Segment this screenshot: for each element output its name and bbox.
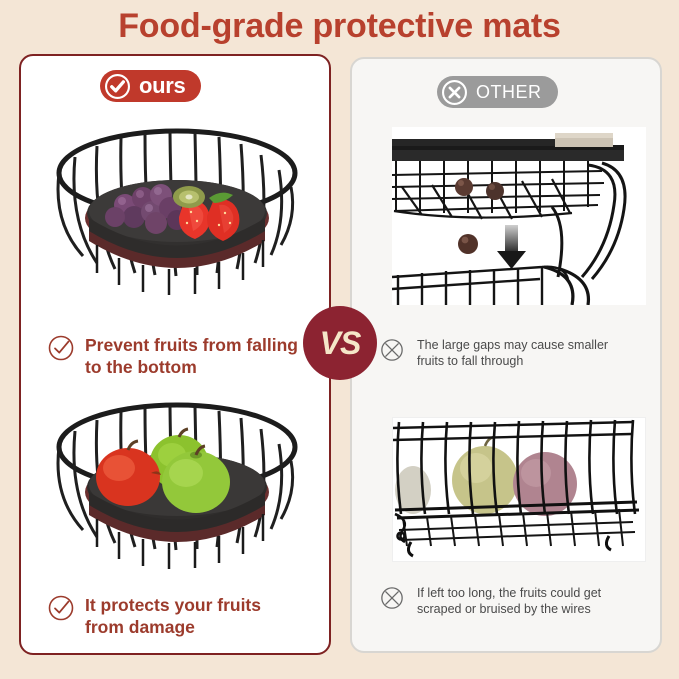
page-title: Food-grade protective mats <box>0 4 679 48</box>
caption-line-1: If left too long, the fruits could get <box>417 585 601 601</box>
ours-photo-grapes-strawberries <box>39 113 315 303</box>
vs-label: VS <box>320 327 361 359</box>
caption-line-2: from damage <box>85 616 261 638</box>
x-circle-icon <box>380 586 406 612</box>
x-circle-icon <box>442 80 467 105</box>
caption-line-1: The large gaps may cause smaller <box>417 337 608 353</box>
ours-caption-2: It protects your fruits from damage <box>48 594 308 638</box>
ours-badge: ours <box>100 70 201 102</box>
other-caption-1-text: The large gaps may cause smaller fruits … <box>417 337 608 369</box>
other-caption-2: If left too long, the fruits could get s… <box>380 585 640 617</box>
other-caption-1: The large gaps may cause smaller fruits … <box>380 337 640 369</box>
other-badge: OTHER <box>437 76 558 108</box>
infographic-page: Food-grade protective mats ours <box>0 0 679 679</box>
caption-line-2: to the bottom <box>85 356 298 378</box>
other-caption-2-text: If left too long, the fruits could get s… <box>417 585 601 617</box>
ours-caption-1: Prevent fruits from falling to the botto… <box>48 334 308 378</box>
caption-line-1: Prevent fruits from falling <box>85 334 298 356</box>
check-circle-icon <box>48 335 74 361</box>
x-circle-icon <box>380 338 406 364</box>
other-photo-gaps <box>392 127 646 305</box>
caption-line-2: scraped or bruised by the wires <box>417 601 601 617</box>
caption-line-1: It protects your fruits <box>85 594 261 616</box>
ours-caption-2-text: It protects your fruits from damage <box>85 594 261 638</box>
check-circle-icon <box>105 74 130 99</box>
caption-line-2: fruits to fall through <box>417 353 608 369</box>
other-photo-bare-wires <box>392 417 646 562</box>
ours-panel: ours <box>19 54 331 655</box>
ours-badge-label: ours <box>139 75 185 97</box>
other-badge-label: OTHER <box>476 83 542 101</box>
vs-badge: VS <box>303 306 377 380</box>
ours-photo-apples <box>39 389 315 574</box>
other-panel: OTHER <box>350 57 662 653</box>
ours-caption-1-text: Prevent fruits from falling to the botto… <box>85 334 298 378</box>
vs-circle: VS <box>303 306 377 380</box>
check-circle-icon <box>48 595 74 621</box>
